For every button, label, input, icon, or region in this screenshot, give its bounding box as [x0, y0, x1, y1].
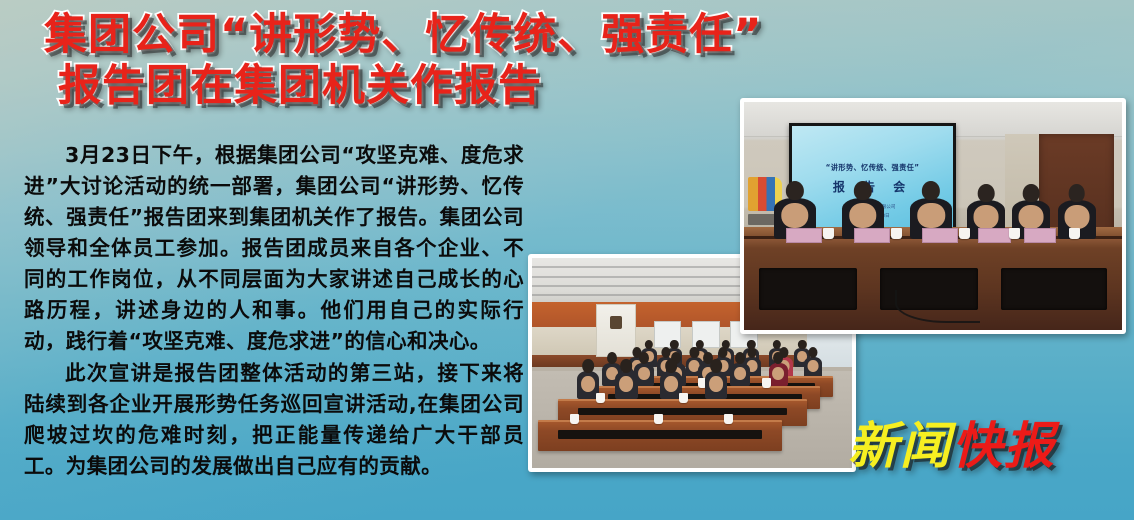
page-title-line-1: 集团公司“讲形势、忆传统、强责任”	[44, 10, 764, 61]
news-flash-yellow-text: 新闻	[848, 417, 952, 475]
dais-table-front	[744, 236, 1122, 330]
photo-dais: “讲形势、忆传统、强责任” 报 告 会 济宁矿业集团有限公司 2015年3月23…	[740, 98, 1126, 334]
news-flash-red-text: 快报	[952, 417, 1056, 475]
microphone-cable	[895, 290, 980, 323]
article-body: 3月23日下午，根据集团公司“攻坚克难、度危求进”大讨论活动的统一部署，集团公司…	[24, 140, 524, 482]
page-title-line-2: 报告团在集团机关作报告	[44, 61, 764, 112]
news-flash-badge: 新闻快报	[848, 406, 1056, 478]
page-title: 集团公司“讲形势、忆传统、强责任” 报告团在集团机关作报告	[44, 10, 764, 111]
photo-dais-content: “讲形势、忆传统、强责任” 报 告 会 济宁矿业集团有限公司 2015年3月23…	[744, 102, 1122, 330]
news-poster: 集团公司“讲形势、忆传统、强责任” 报告团在集团机关作报告 3月23日下午，根据…	[0, 0, 1134, 520]
screen-title: “讲形势、忆传统、强责任”	[826, 163, 920, 174]
audience-desk-row-1	[538, 420, 781, 451]
wall-poster-de	[596, 304, 636, 356]
article-paragraph-2: 此次宣讲是报告团整体活动的第三站，接下来将陆续到各企业开展形势任务巡回宣讲活动,…	[24, 358, 524, 482]
article-paragraph-1: 3月23日下午，根据集团公司“攻坚克难、度危求进”大讨论活动的统一部署，集团公司…	[24, 140, 524, 357]
screen-subtitle: 报 告 会	[833, 178, 912, 195]
